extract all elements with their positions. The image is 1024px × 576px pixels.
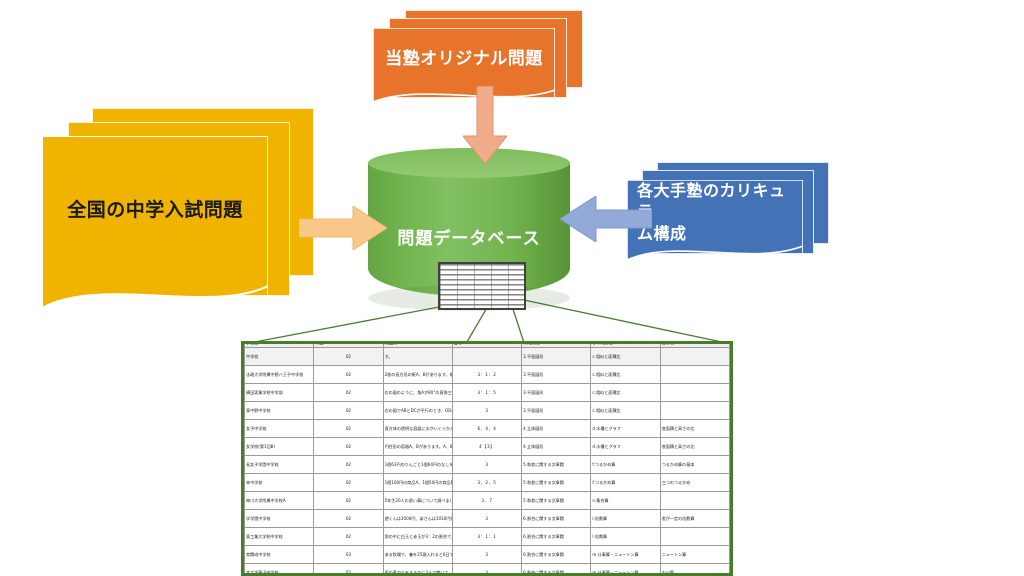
cell-school: 神川大学附属中学校A xyxy=(245,492,314,510)
cell-category: 5.和差に関する文章題 xyxy=(522,456,591,474)
cell-subcategory: l.倍数算 xyxy=(591,510,660,528)
cell-subcategory: f.つるかめ算 xyxy=(591,474,660,492)
cell-school: 中学校 xyxy=(245,348,314,366)
cell-question-text: 直方体の透明な容器に水がいくらか入っています。この容器の3種類の面をA、B、 xyxy=(383,420,452,438)
cell-number: 3、2、5 xyxy=(452,474,521,492)
cell-tag: 三つのつるかめ xyxy=(660,474,729,492)
cell-subcategory: c.相似と面積比 xyxy=(591,384,660,402)
cell-tag xyxy=(660,528,729,546)
cell-year: 02 xyxy=(314,348,383,366)
arrow-down-orange xyxy=(463,86,507,164)
cell-year: 02 xyxy=(314,474,383,492)
cell-subcategory: c.相似と面積比 xyxy=(591,402,660,420)
cell-category: 6.割合に関する文章題 xyxy=(522,546,591,564)
cell-number: 3：1：1 xyxy=(452,528,521,546)
table-row[interactable]: 育関成中学校03ある牧場で、養を25頭入れると6日で草がなくなり、20頭入れると… xyxy=(245,546,730,564)
cell-year: 02 xyxy=(314,366,383,384)
diagram-canvas: 全国の中学入試問題 当塾オリジナル問題 各大手塾のカリキュラ ム構成 問題データ… xyxy=(0,0,1024,576)
cell-school: 女学校(第1回B) xyxy=(245,438,314,456)
cell-number: 4【3】 xyxy=(452,438,521,456)
cell-year: 02 xyxy=(314,510,383,528)
cell-subcategory: f.つるかめ算 xyxy=(591,456,660,474)
cell-year: 02 xyxy=(314,438,383,456)
cell-question-text: 1個100円の商品A、1個50円の商品B、1個10円の商品Cがあります。商品A … xyxy=(383,474,452,492)
cell-school: 林中学校 xyxy=(245,474,314,492)
cell-school: 本大学藤沢中学校 xyxy=(245,564,314,576)
cell-category: 3.平面図形 xyxy=(522,366,591,384)
cell-year: 02 xyxy=(314,456,383,474)
spreadsheet-thumbnail[interactable] xyxy=(438,262,526,310)
table-row[interactable]: 本大学藤沢中学校02庭の草かりをするのに3人で働いて、残り全体の【3分の1】が終… xyxy=(245,564,730,576)
cell-category: 6.割合に関する文章題 xyxy=(522,510,591,528)
source-card-label-left: 全国の中学入試問題 xyxy=(57,198,253,224)
cell-number: 3：1：5 xyxy=(452,384,521,402)
table-body: 中学校02す。3.平面図形c.相似と面積比法政大学附属中野八王子中学校022枚の… xyxy=(245,348,730,576)
cell-school: 東中野中学校 xyxy=(245,402,314,420)
table-row[interactable]: 女子中学校02直方体の透明な容器に水がいくらか入っています。この容器の3種類の面… xyxy=(245,420,730,438)
cell-school: 女子中学校 xyxy=(245,420,314,438)
cell-tag xyxy=(660,384,729,402)
cell-category: 3.平面図形 xyxy=(522,348,591,366)
cell-tag xyxy=(660,492,729,510)
cell-number: 3 xyxy=(452,564,521,576)
cell-subcategory: c.相似と面積比 xyxy=(591,366,660,384)
cell-tag: のべ算 xyxy=(660,564,729,576)
arrow-left-blue xyxy=(560,196,652,242)
source-card-national-exams[interactable]: 全国の中学入試問題 xyxy=(42,108,314,308)
cell-question-text: 袋の中に白玉と赤玉が3：2の割合で入っています。この袋に赤玉だけ20個入れて白玉 xyxy=(383,528,452,546)
table-row[interactable]: 女学校(第1回B)02円柱形の容器A、Bがあります。A、Bの底面積はそれぞれ28… xyxy=(245,438,730,456)
cell-number: 3 xyxy=(452,456,521,474)
problem-database-spreadsheet[interactable]: 学校名 年度 問題文 番号 単元分類 小単元分類 指導法 中学校02す。3.平面… xyxy=(241,341,733,576)
cell-school: 学学園中学校 xyxy=(245,510,314,528)
cell-category: 4.立体図形 xyxy=(522,438,591,456)
cell-tag: 差が一定の倍数算 xyxy=(660,510,729,528)
cell-subcategory: d.水槽とグラフ xyxy=(591,438,660,456)
table-row[interactable]: 横田実業学校中学部02右の図のように、角Aが80°の直角三角形ABCと長方形DE… xyxy=(245,384,730,402)
cell-subcategory: l.倍数算 xyxy=(591,528,660,546)
cell-number: 3 xyxy=(452,402,521,420)
cell-question-text: 右の図のように、角Aが80°の直角三角形ABCと長方形DEFGがあり、長方形の xyxy=(383,384,452,402)
cell-year: 02 xyxy=(314,564,383,576)
cell-subcategory: d.水槽とグラフ xyxy=(591,420,660,438)
spreadsheet-table: 学校名 年度 問題文 番号 単元分類 小単元分類 指導法 中学校02す。3.平面… xyxy=(244,341,730,576)
cell-question-text: 右の図でABとDCが平行のとき、ODの長さは【 】cmです。 xyxy=(383,402,452,420)
cell-question-text: ある牧場で、養を25頭入れると6日で草がなくなり、20頭入れるとき8日で草がなく… xyxy=(383,546,452,564)
table-row[interactable]: 東工業大学柏中学校02袋の中に白玉と赤玉が3：2の割合で入っています。この袋に赤… xyxy=(245,528,730,546)
cell-tag: 底面積と高さの比 xyxy=(660,420,729,438)
table-row[interactable]: 学学園中学校02望くんは1000円、弟さんは1010円持っています。明日から、2… xyxy=(245,510,730,528)
cell-question-text: 円柱形の容器A、Bがあります。A、Bの底面積はそれぞれ280cm2、100cm2… xyxy=(383,438,452,456)
cell-question-text: 1個63円のりんごと1個64円のなしを合わせて10個買ったところ、代金は717円… xyxy=(383,456,452,474)
cell-number xyxy=(452,348,521,366)
cell-year: 02 xyxy=(314,402,383,420)
cell-category: 5.和差に関する文章題 xyxy=(522,492,591,510)
cell-category: 4.立体図形 xyxy=(522,420,591,438)
cell-subcategory: m.仕事算・ニュートン算 xyxy=(591,564,660,576)
arrow-right-yellow xyxy=(299,206,387,250)
cell-question-text: す。 xyxy=(383,348,452,366)
cell-year: 03 xyxy=(314,546,383,564)
cell-question-text: 2枚の長方形の紙A、Bがあります。紙のたての長さと横の長さの比は、それぞれA xyxy=(383,366,452,384)
cell-number: 6、4、4 xyxy=(452,420,521,438)
cell-subcategory: m.仕事算・ニュートン算 xyxy=(591,546,660,564)
cell-category: 3.平面図形 xyxy=(522,384,591,402)
table-row[interactable]: 中学校02す。3.平面図形c.相似と面積比 xyxy=(245,348,730,366)
source-card-label-right: 各大手塾のカリキュラ ム構成 xyxy=(627,181,803,246)
source-card-cram-school-curriculum[interactable]: 各大手塾のカリキュラ ム構成 xyxy=(627,162,829,260)
cell-question-text: 庭の草かりをするのに3人で働いて、残り全体の【3分の1】が終わりません。残り xyxy=(383,564,452,576)
thumbnail-grid xyxy=(440,264,524,308)
cell-year: 02 xyxy=(314,384,383,402)
cell-question-text: 望くんは1000円、弟さんは1010円持っています。明日から、2人とも毎日100… xyxy=(383,510,452,528)
cell-number: 3、7 xyxy=(452,492,521,510)
cell-category: 3.平面図形 xyxy=(522,402,591,420)
database-label: 問題データベース xyxy=(368,224,570,249)
table-row[interactable]: 林中学校021個100円の商品A、1個50円の商品B、1個10円の商品Cがありま… xyxy=(245,474,730,492)
cell-year: 02 xyxy=(314,528,383,546)
source-card-label-top: 当塾オリジナル問題 xyxy=(375,48,553,71)
cell-category: 5.和差に関する文章題 xyxy=(522,474,591,492)
cell-question-text: 5年生20人の習い事について調べました。水泳を習っている人が8人でピア xyxy=(383,492,452,510)
cell-tag xyxy=(660,366,729,384)
cell-category: 6.割合に関する文章題 xyxy=(522,564,591,576)
cell-number: 3 xyxy=(452,546,521,564)
cell-school: 法政大学附属中野八王子中学校 xyxy=(245,366,314,384)
cell-school: 横田実業学校中学部 xyxy=(245,384,314,402)
table-row[interactable]: 東中野中学校02右の図でABとDCが平行のとき、ODの長さは【 】cmです。33… xyxy=(245,402,730,420)
cell-number: 3 xyxy=(452,510,521,528)
table-row[interactable]: 長女子学園中学校021個63円のりんごと1個64円のなしを合わせて10個買ったと… xyxy=(245,456,730,474)
cell-tag xyxy=(660,402,729,420)
cell-tag: つるかめ算の基本 xyxy=(660,456,729,474)
cell-school: 長女子学園中学校 xyxy=(245,456,314,474)
cell-number: 3：1：2 xyxy=(452,366,521,384)
table-row[interactable]: 法政大学附属中野八王子中学校022枚の長方形の紙A、Bがあります。紙のたての長さ… xyxy=(245,366,730,384)
cell-tag: 底面積と高さの比 xyxy=(660,438,729,456)
cell-year: 02 xyxy=(314,492,383,510)
cell-subcategory: c.相似と面積比 xyxy=(591,348,660,366)
cell-tag xyxy=(660,348,729,366)
cell-category: 6.割合に関する文章題 xyxy=(522,528,591,546)
cell-subcategory: n.集合算 xyxy=(591,492,660,510)
cell-school: 育関成中学校 xyxy=(245,546,314,564)
cell-school: 東工業大学柏中学校 xyxy=(245,528,314,546)
cell-year: 02 xyxy=(314,420,383,438)
table-row[interactable]: 神川大学附属中学校A025年生20人の習い事について調べました。水泳を習っている… xyxy=(245,492,730,510)
cell-tag: ニュートン算 xyxy=(660,546,729,564)
